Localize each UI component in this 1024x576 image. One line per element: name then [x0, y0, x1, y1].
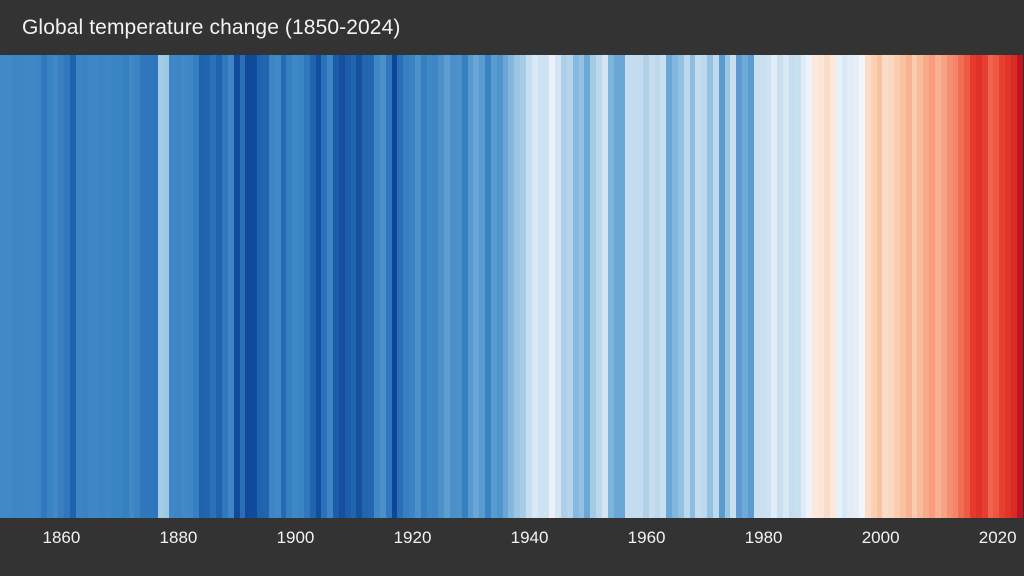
warming-stripes-figure: Global temperature change (1850-2024) 18… — [0, 0, 1024, 576]
page-title: Global temperature change (1850-2024) — [0, 16, 400, 40]
x-axis-tick-1960: 1960 — [628, 528, 666, 548]
x-axis: 186018801900192019401960198020002020 — [0, 518, 1024, 576]
title-bar: Global temperature change (1850-2024) — [0, 0, 1024, 55]
x-axis-tick-2000: 2000 — [862, 528, 900, 548]
x-axis-tick-1880: 1880 — [160, 528, 198, 548]
stripe-2024 — [1017, 55, 1023, 518]
x-axis-tick-1860: 1860 — [43, 528, 81, 548]
x-axis-tick-2020: 2020 — [979, 528, 1017, 548]
stripes-band — [0, 55, 1024, 518]
x-axis-tick-1940: 1940 — [511, 528, 549, 548]
x-axis-tick-1900: 1900 — [277, 528, 315, 548]
x-axis-tick-1920: 1920 — [394, 528, 432, 548]
x-axis-tick-1980: 1980 — [745, 528, 783, 548]
